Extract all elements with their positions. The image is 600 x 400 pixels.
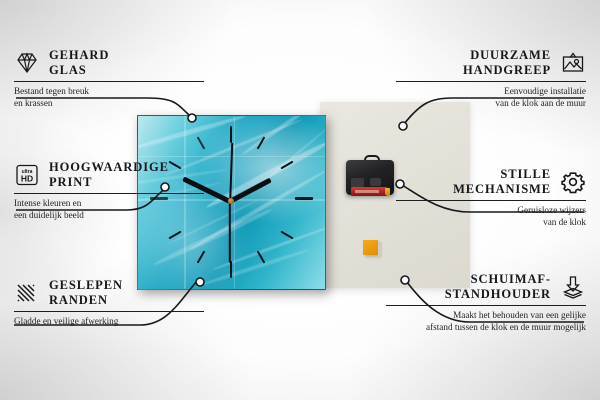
infographic-canvas: GEHARDGLAS Bestand tegen breuken krassen… bbox=[0, 0, 600, 400]
divider bbox=[14, 193, 204, 194]
feature-stille-mechanisme: STILLEMECHANISME Geruisloze wijzersvan d… bbox=[396, 167, 586, 228]
mechanism-slot bbox=[370, 178, 381, 186]
feature-description: Geruisloze wijzersvan de klok bbox=[396, 205, 586, 228]
aa-battery bbox=[351, 187, 387, 196]
hour-marker bbox=[295, 197, 313, 200]
battery-label bbox=[355, 190, 379, 193]
feature-description: Intense kleuren eneen duidelijk beeld bbox=[14, 198, 204, 221]
gear-icon bbox=[560, 170, 586, 194]
picture-frame-icon bbox=[560, 51, 586, 75]
feature-header: GEHARDGLAS bbox=[14, 48, 204, 77]
feature-title: DUURZAMEHANDGREEP bbox=[463, 48, 551, 77]
divider bbox=[386, 305, 586, 306]
glass-grid-line bbox=[234, 116, 235, 289]
feature-header: GESLEPENRANDEN bbox=[14, 278, 204, 307]
divider bbox=[14, 311, 204, 312]
feature-description: Gladde en veilige afwerking bbox=[14, 316, 204, 328]
diamond-icon bbox=[14, 51, 40, 75]
foam-spacer bbox=[363, 240, 378, 255]
mechanism-slot bbox=[351, 178, 364, 187]
feature-header: STILLEMECHANISME bbox=[396, 167, 586, 196]
hour-marker bbox=[230, 261, 232, 278]
arrow-down-pad-icon bbox=[560, 275, 586, 299]
feature-description: Bestand tegen breuken krassen bbox=[14, 86, 204, 109]
feature-geslepen-randen: GESLEPENRANDEN Gladde en veilige afwerki… bbox=[14, 278, 204, 328]
hour-marker bbox=[230, 126, 232, 143]
feature-description: Eenvoudige installatievan de klok aan de… bbox=[396, 86, 586, 109]
ultra-hd-icon: ultra HD bbox=[14, 163, 40, 187]
hatched-edge-icon bbox=[14, 281, 40, 305]
feature-title: GESLEPENRANDEN bbox=[49, 278, 123, 307]
feature-duurzame-handgreep: DUURZAMEHANDGREEP Eenvoudige installatie… bbox=[396, 48, 586, 109]
feature-gehard-glas: GEHARDGLAS Bestand tegen breuken krassen bbox=[14, 48, 204, 109]
feature-header: SCHUIMAF-STANDHOUDER bbox=[386, 272, 586, 301]
feature-title: HOOGWAARDIGEPRINT bbox=[49, 160, 169, 189]
feature-header: ultra HD HOOGWAARDIGEPRINT bbox=[14, 160, 204, 189]
feature-schuimafstandhouder: SCHUIMAF-STANDHOUDER Maakt het behouden … bbox=[386, 272, 586, 333]
feature-description: Maakt het behouden van een gelijkeafstan… bbox=[386, 310, 586, 333]
divider bbox=[14, 81, 204, 82]
clock-center-pin bbox=[228, 198, 234, 204]
divider bbox=[396, 200, 586, 201]
feature-hoogwaardige-print: ultra HD HOOGWAARDIGEPRINT Intense kleur… bbox=[14, 160, 204, 221]
second-hand bbox=[229, 201, 231, 263]
mechanism-body bbox=[346, 160, 394, 195]
feature-title: SCHUIMAF-STANDHOUDER bbox=[445, 272, 551, 301]
ultra-hd-icon-bottom-text: HD bbox=[21, 173, 33, 183]
feature-header: DUURZAMEHANDGREEP bbox=[396, 48, 586, 77]
divider bbox=[396, 81, 586, 82]
feature-title: GEHARDGLAS bbox=[49, 48, 109, 77]
clock-mechanism bbox=[346, 155, 394, 195]
feature-title: STILLEMECHANISME bbox=[453, 167, 551, 196]
battery-terminal bbox=[385, 188, 390, 195]
